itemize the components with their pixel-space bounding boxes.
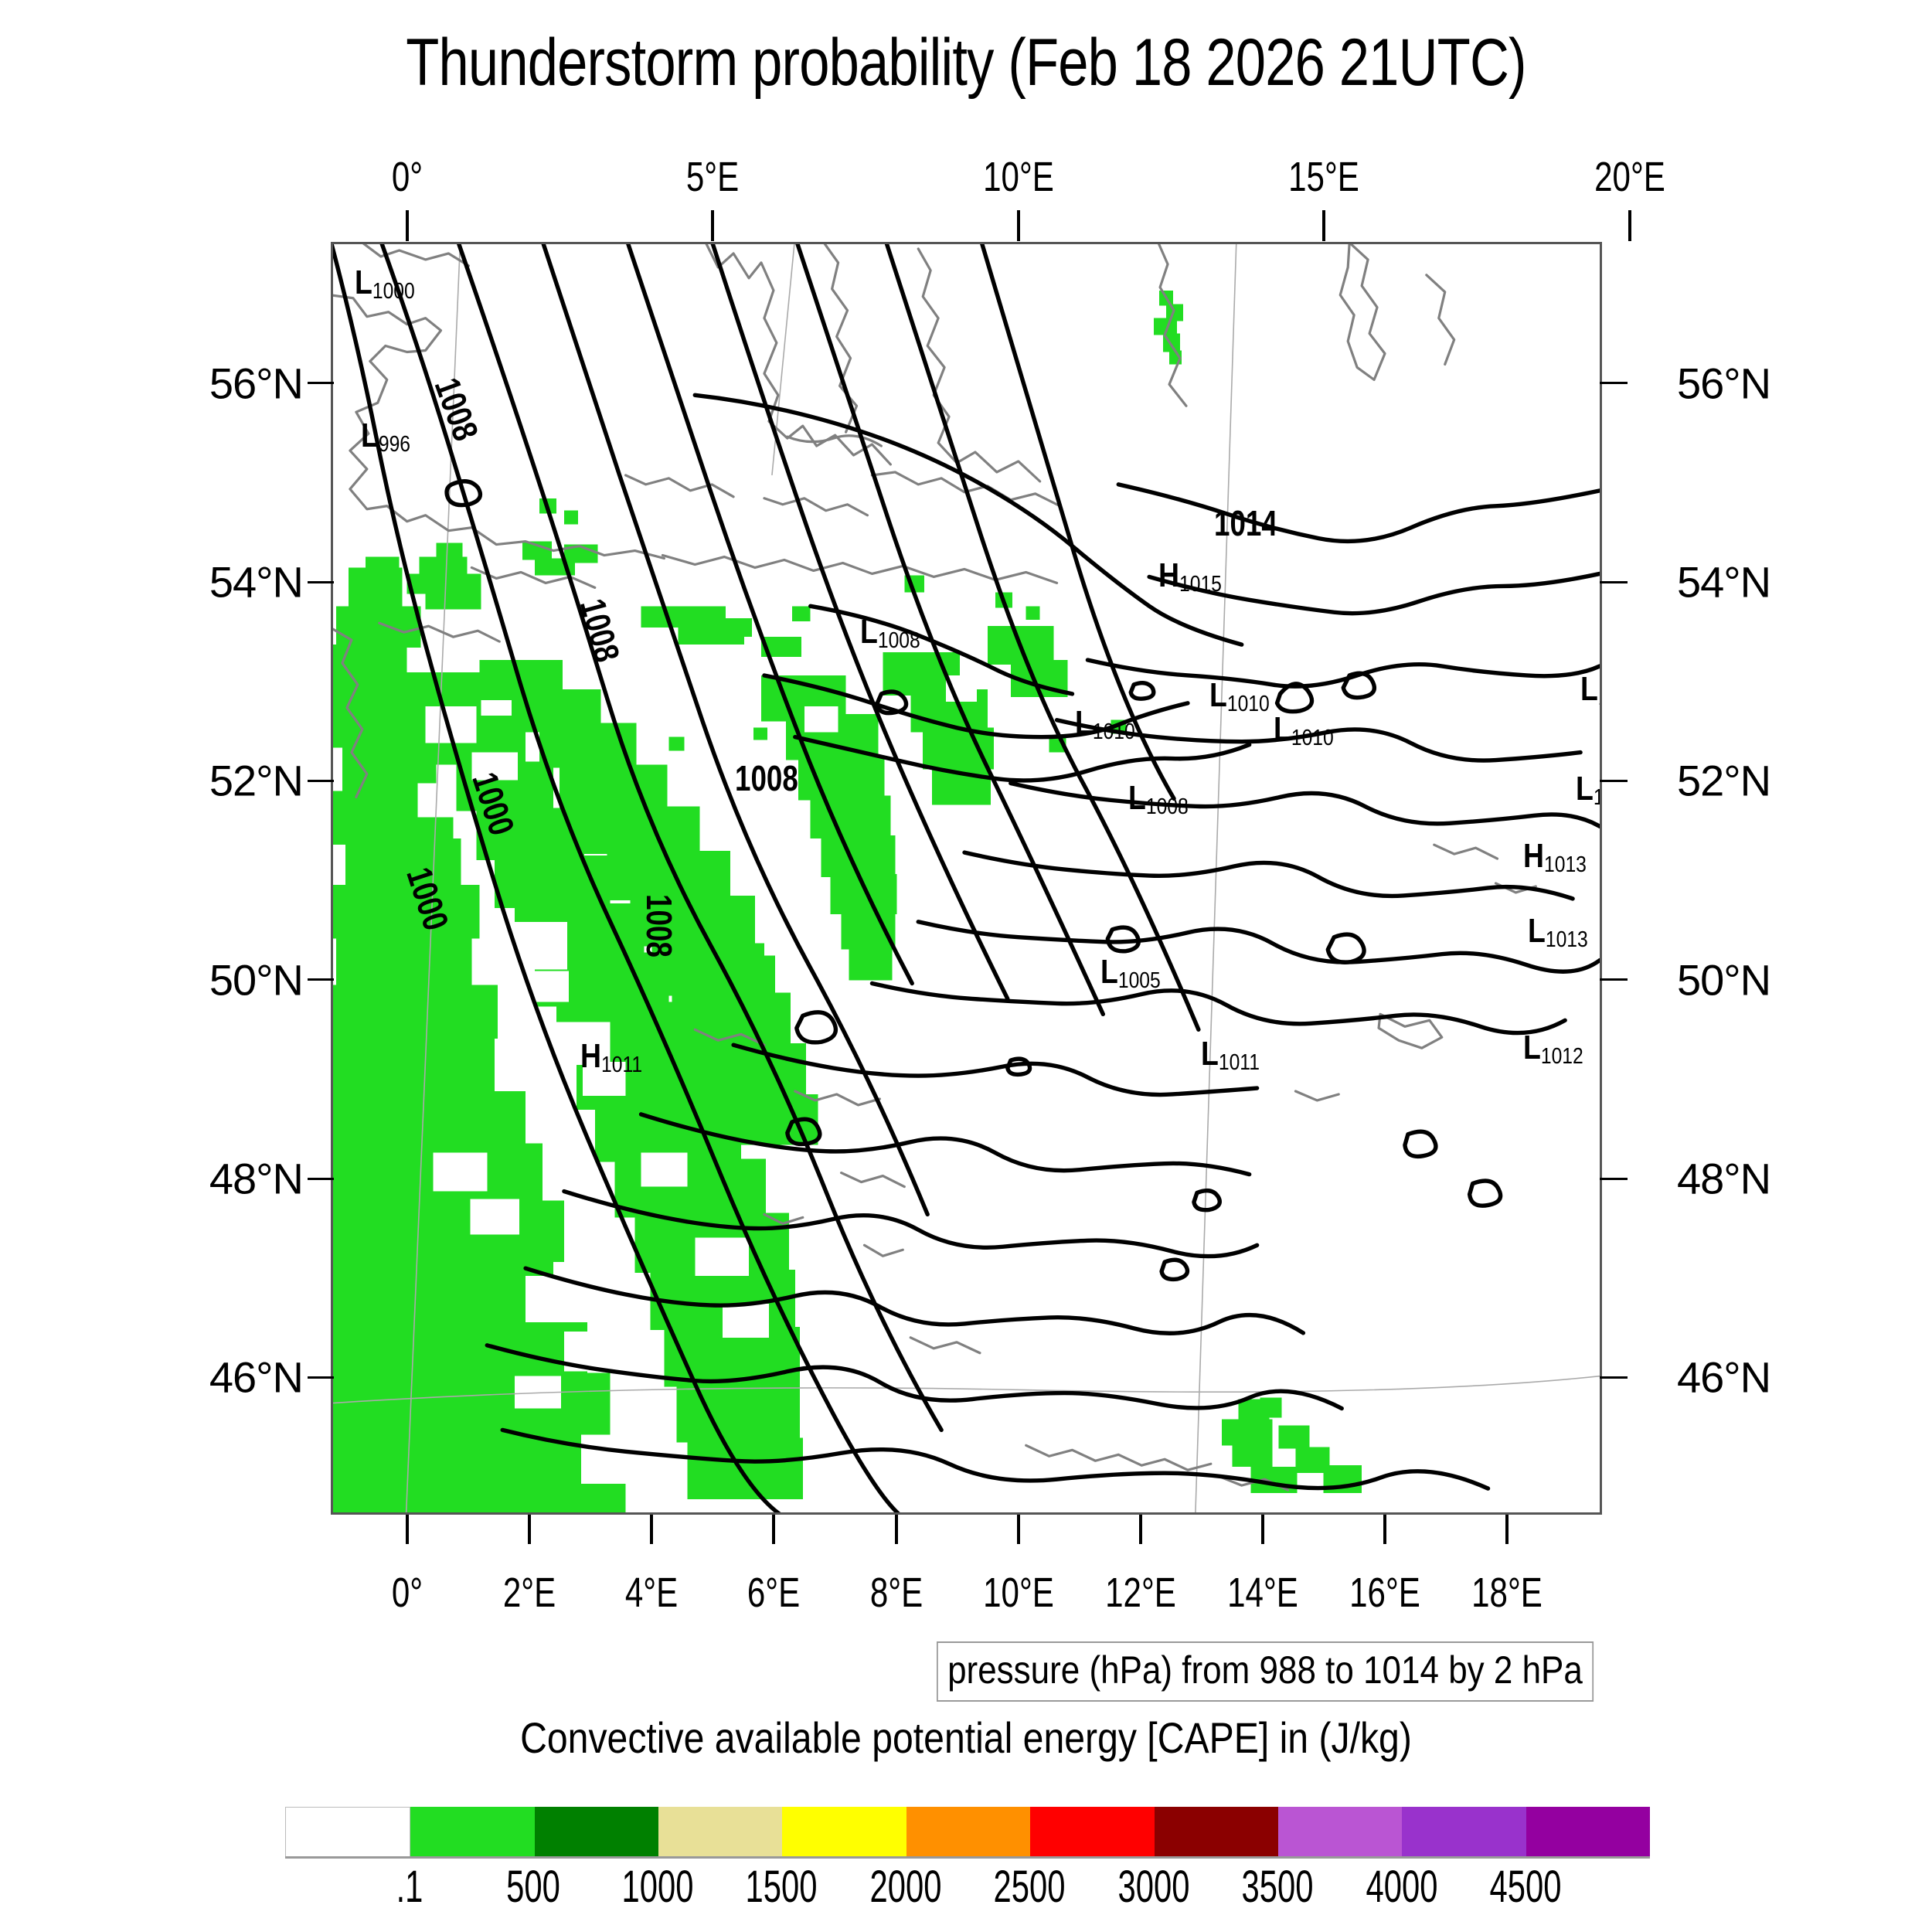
lat-tickmark-right-4 bbox=[1600, 1178, 1628, 1180]
colorbar-label-8: 4000 bbox=[1366, 1861, 1437, 1913]
map-panel[interactable]: L1000L996H1015L1008L1010L1010L1L1010L10L… bbox=[331, 242, 1602, 1515]
lon-tick-bottom-2: 4°E bbox=[625, 1569, 678, 1617]
lon-tick-bottom-8: 16°E bbox=[1349, 1569, 1420, 1617]
colorbar-swatch-5[interactable] bbox=[906, 1807, 1030, 1856]
lon-tickmark-bottom-9 bbox=[1505, 1515, 1509, 1544]
pressure-center-l-11: L1013 bbox=[1528, 914, 1588, 948]
lat-tick-left-4: 48°N bbox=[179, 1154, 303, 1204]
colorbar-label-4: 2000 bbox=[869, 1861, 941, 1913]
colorbar-label-1: 500 bbox=[506, 1861, 560, 1913]
lon-tickmark-bottom-0 bbox=[406, 1515, 409, 1544]
pressure-center-h-10: H1013 bbox=[1523, 839, 1587, 873]
colorbar-label-7: 3500 bbox=[1242, 1861, 1314, 1913]
lon-tick-top-1: 5°E bbox=[686, 153, 739, 201]
lon-tick-top-4: 20°E bbox=[1594, 153, 1665, 201]
colorbar-label-2: 1000 bbox=[621, 1861, 693, 1913]
pressure-center-l-14: L1011 bbox=[1201, 1037, 1260, 1071]
lat-tick-left-3: 50°N bbox=[179, 954, 303, 1005]
lon-tick-bottom-4: 8°E bbox=[869, 1569, 922, 1617]
lat-tick-left-5: 46°N bbox=[179, 1352, 303, 1403]
colorbar-swatch-2[interactable] bbox=[535, 1807, 658, 1856]
pressure-center-l-8: L10 bbox=[1576, 772, 1602, 806]
pressure-center-l-4: L1010 bbox=[1209, 679, 1270, 713]
colorbar-tick-labels: .150010001500200025003000350040004500 bbox=[285, 1861, 1650, 1923]
lon-tick-bottom-5: 10°E bbox=[983, 1569, 1054, 1617]
colorbar-swatch-8[interactable] bbox=[1278, 1807, 1402, 1856]
lon-tick-bottom-7: 14°E bbox=[1227, 1569, 1298, 1617]
lat-tickmark-left-2 bbox=[308, 780, 334, 782]
lon-tickmark-top-4 bbox=[1628, 210, 1631, 241]
colorbar-label-5: 2500 bbox=[994, 1861, 1066, 1913]
lon-tickmark-bottom-6 bbox=[1139, 1515, 1142, 1544]
lon-tick-bottom-9: 18°E bbox=[1472, 1569, 1543, 1617]
page-title: Thunderstorm probability (Feb 18 2026 21… bbox=[174, 25, 1758, 101]
lon-tick-bottom-3: 6°E bbox=[747, 1569, 800, 1617]
lat-tickmark-right-5 bbox=[1600, 1376, 1628, 1379]
colorbar-swatch-0[interactable] bbox=[285, 1807, 410, 1856]
lat-tickmark-left-0 bbox=[308, 382, 334, 384]
colorbar[interactable] bbox=[285, 1807, 1650, 1859]
lat-tick-right-0: 56°N bbox=[1677, 358, 1770, 408]
lon-tickmark-top-1 bbox=[711, 210, 714, 241]
colorbar-swatch-4[interactable] bbox=[782, 1807, 906, 1856]
contour-label-4: 1014 bbox=[1214, 505, 1277, 541]
lat-tick-left-2: 52°N bbox=[179, 756, 303, 806]
pressure-center-l-12: L1005 bbox=[1100, 955, 1161, 989]
pressure-center-h-2: H1015 bbox=[1158, 559, 1222, 593]
pressure-center-l-0: L1000 bbox=[355, 266, 415, 300]
lon-tickmark-bottom-1 bbox=[528, 1515, 531, 1544]
lon-tickmark-bottom-4 bbox=[895, 1515, 898, 1544]
colorbar-label-3: 1500 bbox=[746, 1861, 818, 1913]
lon-tick-bottom-0: 0° bbox=[392, 1569, 423, 1617]
colorbar-caption: Convective available potential energy [C… bbox=[135, 1713, 1797, 1763]
colorbar-swatch-6[interactable] bbox=[1030, 1807, 1154, 1856]
lon-tick-top-0: 0° bbox=[392, 153, 423, 201]
lon-tickmark-bottom-8 bbox=[1383, 1515, 1386, 1544]
lat-tickmark-right-2 bbox=[1600, 780, 1628, 782]
lat-tick-left-0: 56°N bbox=[179, 358, 303, 408]
lat-tick-right-4: 48°N bbox=[1677, 1154, 1770, 1204]
pressure-center-l-9: L1008 bbox=[1128, 781, 1189, 815]
lat-tick-right-1: 54°N bbox=[1677, 557, 1770, 607]
lat-tickmark-left-1 bbox=[308, 581, 334, 583]
lat-tickmark-left-4 bbox=[308, 1178, 334, 1180]
pressure-center-l-15: L1012 bbox=[1523, 1031, 1583, 1065]
pressure-center-l-7: L1010 bbox=[1274, 713, 1334, 747]
contour-label-6: 1008 bbox=[735, 760, 798, 796]
lon-tick-top-2: 10°E bbox=[983, 153, 1054, 201]
lat-tick-right-3: 50°N bbox=[1677, 954, 1770, 1005]
pressure-center-l-1: L996 bbox=[361, 419, 410, 453]
lat-tickmark-left-3 bbox=[308, 978, 334, 981]
lat-tickmark-right-3 bbox=[1600, 978, 1628, 981]
pressure-center-l-5: L1010 bbox=[1075, 706, 1135, 740]
colorbar-swatch-3[interactable] bbox=[658, 1807, 782, 1856]
colorbar-label-0: .1 bbox=[396, 1861, 423, 1913]
colorbar-swatch-10[interactable] bbox=[1526, 1807, 1650, 1856]
colorbar-label-9: 4500 bbox=[1490, 1861, 1562, 1913]
lat-tickmark-right-1 bbox=[1600, 581, 1628, 583]
lon-tick-top-3: 15°E bbox=[1288, 153, 1359, 201]
pressure-center-l-3: L1008 bbox=[860, 615, 920, 649]
lat-tickmark-left-5 bbox=[308, 1376, 334, 1379]
map-canvas bbox=[333, 244, 1600, 1512]
lon-tickmark-bottom-2 bbox=[650, 1515, 653, 1544]
lat-tick-right-2: 52°N bbox=[1677, 756, 1770, 806]
lat-tickmark-right-0 bbox=[1600, 382, 1628, 384]
pressure-center-l-6: L1 bbox=[1580, 672, 1602, 706]
lon-tickmark-top-3 bbox=[1322, 210, 1325, 241]
contour-label-8: 1008 bbox=[641, 894, 677, 957]
lon-tick-bottom-6: 12°E bbox=[1105, 1569, 1176, 1617]
lon-tickmark-top-0 bbox=[406, 210, 409, 241]
pressure-center-h-13: H1011 bbox=[580, 1039, 642, 1073]
lat-tick-left-1: 54°N bbox=[179, 557, 303, 607]
lon-tick-bottom-1: 2°E bbox=[503, 1569, 556, 1617]
pressure-legend: pressure (hPa) from 988 to 1014 by 2 hPa bbox=[937, 1641, 1594, 1702]
lat-tick-right-5: 46°N bbox=[1677, 1352, 1770, 1403]
colorbar-label-6: 3000 bbox=[1117, 1861, 1189, 1913]
cape-shading bbox=[333, 291, 1362, 1512]
lon-tickmark-bottom-7 bbox=[1261, 1515, 1264, 1544]
lon-tickmark-top-2 bbox=[1017, 210, 1020, 241]
colorbar-swatch-9[interactable] bbox=[1402, 1807, 1526, 1856]
lon-tickmark-bottom-3 bbox=[772, 1515, 775, 1544]
lon-tickmark-bottom-5 bbox=[1017, 1515, 1020, 1544]
colorbar-swatch-1[interactable] bbox=[410, 1807, 534, 1856]
colorbar-swatch-7[interactable] bbox=[1155, 1807, 1278, 1856]
